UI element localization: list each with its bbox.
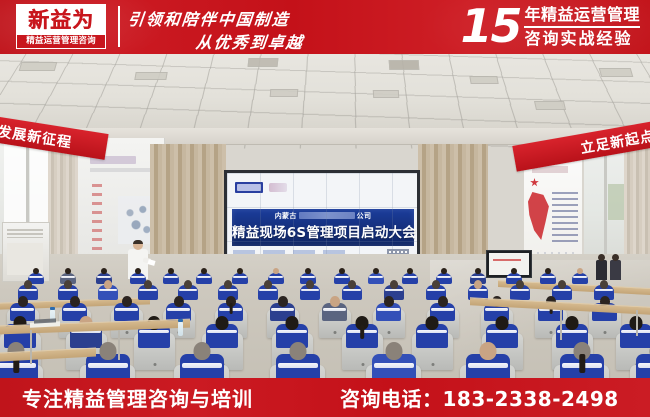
table-leg (636, 310, 638, 336)
bottle-cap (50, 307, 55, 310)
attendee-head (65, 268, 71, 274)
reflective-stripe (468, 363, 508, 368)
attendee-uniform (636, 354, 650, 378)
attendee-uniform (402, 273, 418, 284)
attendee-head (305, 268, 311, 274)
attendee-head (348, 280, 356, 289)
attendee-head (390, 280, 398, 289)
header-bar: 新益为 精益运营管理咨询 引领和陪伴中国制造 从优秀到卓越 15 年精益运营管理… (0, 0, 650, 54)
attendee-uniform (572, 273, 588, 284)
reflective-stripe (541, 276, 556, 278)
chair-detail (126, 331, 129, 334)
reflective-stripe (19, 289, 37, 291)
ceiling-light (19, 62, 58, 71)
attendee-head (100, 342, 117, 360)
screen-logo (235, 182, 263, 193)
ceiling-light (534, 101, 566, 110)
attendee (560, 342, 604, 378)
reflective-stripe (403, 276, 418, 278)
reflective-stripe (139, 330, 168, 333)
attendee (416, 316, 448, 348)
chair-detail (431, 363, 434, 366)
presenter-hair (133, 240, 143, 244)
screen-company-blurred (299, 212, 355, 219)
reflective-stripe (277, 330, 306, 333)
attendee (376, 296, 401, 321)
ceiling-light (248, 58, 279, 67)
attendee (138, 280, 158, 300)
attendee-head (474, 280, 482, 289)
logo-name: 新益为 (17, 5, 105, 35)
header-divider (118, 6, 120, 47)
stage-curtain-right (418, 144, 488, 264)
reflective-stripe (11, 308, 34, 311)
reflective-stripe (164, 276, 179, 278)
logo-tagline: 精益运营管理咨询 (17, 35, 105, 48)
attendee-uniform (163, 273, 179, 284)
attendee (276, 342, 320, 378)
attendee-head (122, 296, 132, 307)
attendee-head (545, 268, 551, 274)
reflective-stripe (233, 276, 248, 278)
reflective-stripe (301, 289, 319, 291)
reflective-stripe (323, 308, 346, 311)
ceiling-light (373, 90, 399, 98)
reflective-stripe (219, 289, 237, 291)
slogan-line-2: 从优秀到卓越 (195, 29, 306, 53)
attendee-head (386, 342, 403, 360)
right-curtain (624, 134, 650, 274)
attendee (300, 280, 320, 300)
reflective-stripe (59, 289, 77, 291)
poster-dot-column (92, 184, 102, 254)
attendee (402, 268, 418, 284)
attendee (510, 280, 530, 300)
reflective-stripe (131, 276, 146, 278)
attendee-head (24, 280, 32, 289)
chair-detail (361, 363, 364, 366)
attendee (466, 342, 510, 378)
reflective-stripe (335, 276, 350, 278)
experience-line-2: 咨询实战经验 (524, 28, 640, 49)
attendee-ponytail (579, 354, 585, 373)
reflective-stripe (469, 289, 487, 291)
attendee (372, 342, 416, 378)
reflective-stripe (29, 276, 44, 278)
attendee-head (438, 296, 448, 307)
reflective-stripe (507, 276, 522, 278)
reflective-stripe (207, 330, 236, 333)
attendee-head (511, 268, 517, 274)
attendee-head (201, 268, 207, 274)
reflective-stripe (61, 276, 76, 278)
screen-company-prefix: 内蒙古 (275, 212, 297, 220)
reflective-stripe (595, 289, 613, 291)
staff-member (596, 254, 607, 280)
reflective-stripe (427, 289, 445, 291)
reflective-stripe (573, 276, 588, 278)
screen-logo-secondary (269, 183, 287, 192)
window-pane (30, 144, 50, 228)
footer-bar: 专注精益管理咨询与培训 咨询电话：183-2338-2498 (0, 378, 650, 417)
reflective-stripe (417, 330, 446, 333)
experience-line-1: 年精益运营管理 (524, 5, 640, 26)
map-shape-icon (528, 192, 550, 240)
attendee-head (216, 316, 229, 330)
reflective-stripe (343, 289, 361, 291)
screen-company-suffix: 公司 (357, 212, 372, 220)
attendee-head (273, 268, 279, 274)
attendee-uniform (196, 273, 212, 284)
table-leg (30, 330, 32, 364)
attendee (180, 342, 224, 378)
ceiling-light (389, 60, 420, 70)
stage-curtain-left (150, 144, 226, 264)
attendee-head (558, 280, 566, 289)
reflective-stripe (99, 289, 117, 291)
attendee-head (384, 296, 394, 307)
reflective-stripe (271, 308, 294, 311)
window-mullion (604, 144, 607, 254)
attendee-head (18, 296, 28, 307)
attendee-head (407, 268, 413, 274)
attendee-head (339, 268, 345, 274)
attendee-ponytail (229, 303, 232, 314)
chair-detail (604, 331, 607, 334)
ceiling (0, 54, 650, 132)
attendee-head (194, 342, 211, 360)
reflective-stripe (431, 308, 454, 311)
reflective-stripe (139, 289, 157, 291)
attendee-head (101, 268, 107, 274)
chair-detail (388, 331, 391, 334)
attendee-head (264, 280, 272, 289)
reflective-stripe (369, 276, 384, 278)
reflective-stripe (167, 308, 190, 311)
reflective-stripe (179, 289, 197, 291)
reflective-stripe (301, 276, 316, 278)
staff-body (610, 260, 621, 280)
attendee (163, 268, 179, 284)
attendee-head (306, 280, 314, 289)
attendee-head (64, 280, 72, 289)
staff-member (610, 254, 621, 280)
staff-head (598, 254, 605, 261)
header-slogan: 引领和陪伴中国制造 从优秀到卓越 (128, 5, 378, 51)
reflective-stripe (88, 363, 128, 368)
reflective-stripe (511, 289, 529, 291)
reflective-stripe (278, 363, 318, 368)
reflective-stripe (553, 289, 571, 291)
screen-title-band: 内蒙古公司 精益现场6S管理项目启动大会 (232, 209, 414, 246)
ac-vent (7, 229, 43, 238)
chair-detail (334, 331, 337, 334)
attendee-head (496, 316, 509, 330)
chair-detail (153, 363, 156, 366)
attendee-head (600, 280, 608, 289)
table-leg (118, 330, 120, 360)
conference-photo: 发展新征程 内蒙古公司 精益现场6S管理项目启动大会 (0, 54, 650, 378)
screen-subtitle-row: 内蒙古公司 (232, 211, 414, 221)
reflective-stripe (269, 276, 284, 278)
attendee-head (426, 316, 439, 330)
attendee-head (441, 268, 447, 274)
side-display-line (493, 259, 521, 261)
footer-slogan: 专注精益管理咨询与培训 (22, 383, 253, 412)
attendee (636, 342, 650, 378)
screen-logo-inner (237, 184, 261, 191)
table-leg (560, 310, 562, 340)
reflective-stripe (487, 330, 516, 333)
attendee (572, 268, 588, 284)
attendee-head (480, 342, 497, 360)
star-icon (530, 178, 539, 187)
attendee-head (432, 280, 440, 289)
reflective-stripe (385, 289, 403, 291)
right-poster-wall (524, 154, 582, 266)
attendee (114, 296, 139, 321)
poster-subtitle-block (90, 168, 152, 172)
reflective-stripe (638, 363, 650, 368)
reflective-stripe (374, 363, 414, 368)
attendee-head (237, 268, 243, 274)
staff-head (612, 254, 619, 261)
reflective-stripe (182, 363, 222, 368)
attendee-head (70, 296, 80, 307)
attendee-head (144, 280, 152, 289)
chair-detail (550, 331, 553, 334)
footer-phone: 咨询电话：183-2338-2498 (340, 383, 619, 412)
reflective-stripe (437, 276, 452, 278)
attendee (322, 296, 347, 321)
attendee-head (224, 280, 232, 289)
attendee-head (290, 342, 307, 360)
attendee-head (174, 296, 184, 307)
attendee-head (475, 268, 481, 274)
attendee-head (278, 296, 288, 307)
bottle-cap (178, 319, 183, 322)
experience-text: 年精益运营管理 咨询实战经验 (524, 5, 640, 49)
attendee-head (330, 296, 340, 307)
attendee-head (373, 268, 379, 274)
screen-title: 精益现场6S管理项目启动大会 (232, 221, 414, 241)
reflective-stripe (115, 308, 138, 311)
attendee-head (516, 280, 524, 289)
attendee (196, 268, 212, 284)
attendee-head (184, 280, 192, 289)
ceiling-light (599, 68, 634, 77)
window-pane (4, 144, 26, 228)
ceiling-light (134, 72, 167, 80)
reflective-stripe (377, 308, 400, 311)
attendee (368, 268, 384, 284)
staff-body (596, 260, 607, 280)
reflective-stripe (97, 276, 112, 278)
company-logo: 新益为 精益运营管理咨询 (16, 4, 106, 49)
slogan-line-1: 引领和陪伴中国制造 (127, 6, 292, 30)
attendee-head (168, 268, 174, 274)
attendee-head (577, 268, 583, 274)
reflective-stripe (259, 289, 277, 291)
reflective-stripe (63, 308, 86, 311)
experience-block: 15 年精益运营管理 咨询实战经验 (460, 2, 640, 52)
experience-number: 15 (460, 3, 520, 49)
attendee-ponytail (360, 325, 364, 339)
attendee-head (135, 268, 141, 274)
ceiling-light (270, 89, 299, 97)
reflective-stripe (197, 276, 212, 278)
attendee-head (286, 316, 299, 330)
attendee-head (566, 316, 579, 330)
reflective-stripe (471, 276, 486, 278)
ceiling-light (469, 76, 498, 84)
marketing-banner: 新益为 精益运营管理咨询 引领和陪伴中国制造 从优秀到卓越 15 年精益运营管理… (0, 0, 650, 417)
attendee-head (104, 280, 112, 289)
attendee-uniform (368, 273, 384, 284)
attendee-head (33, 268, 39, 274)
poster-text-rows (552, 192, 578, 242)
water-bottle (178, 322, 183, 336)
reflective-stripe (485, 308, 508, 311)
